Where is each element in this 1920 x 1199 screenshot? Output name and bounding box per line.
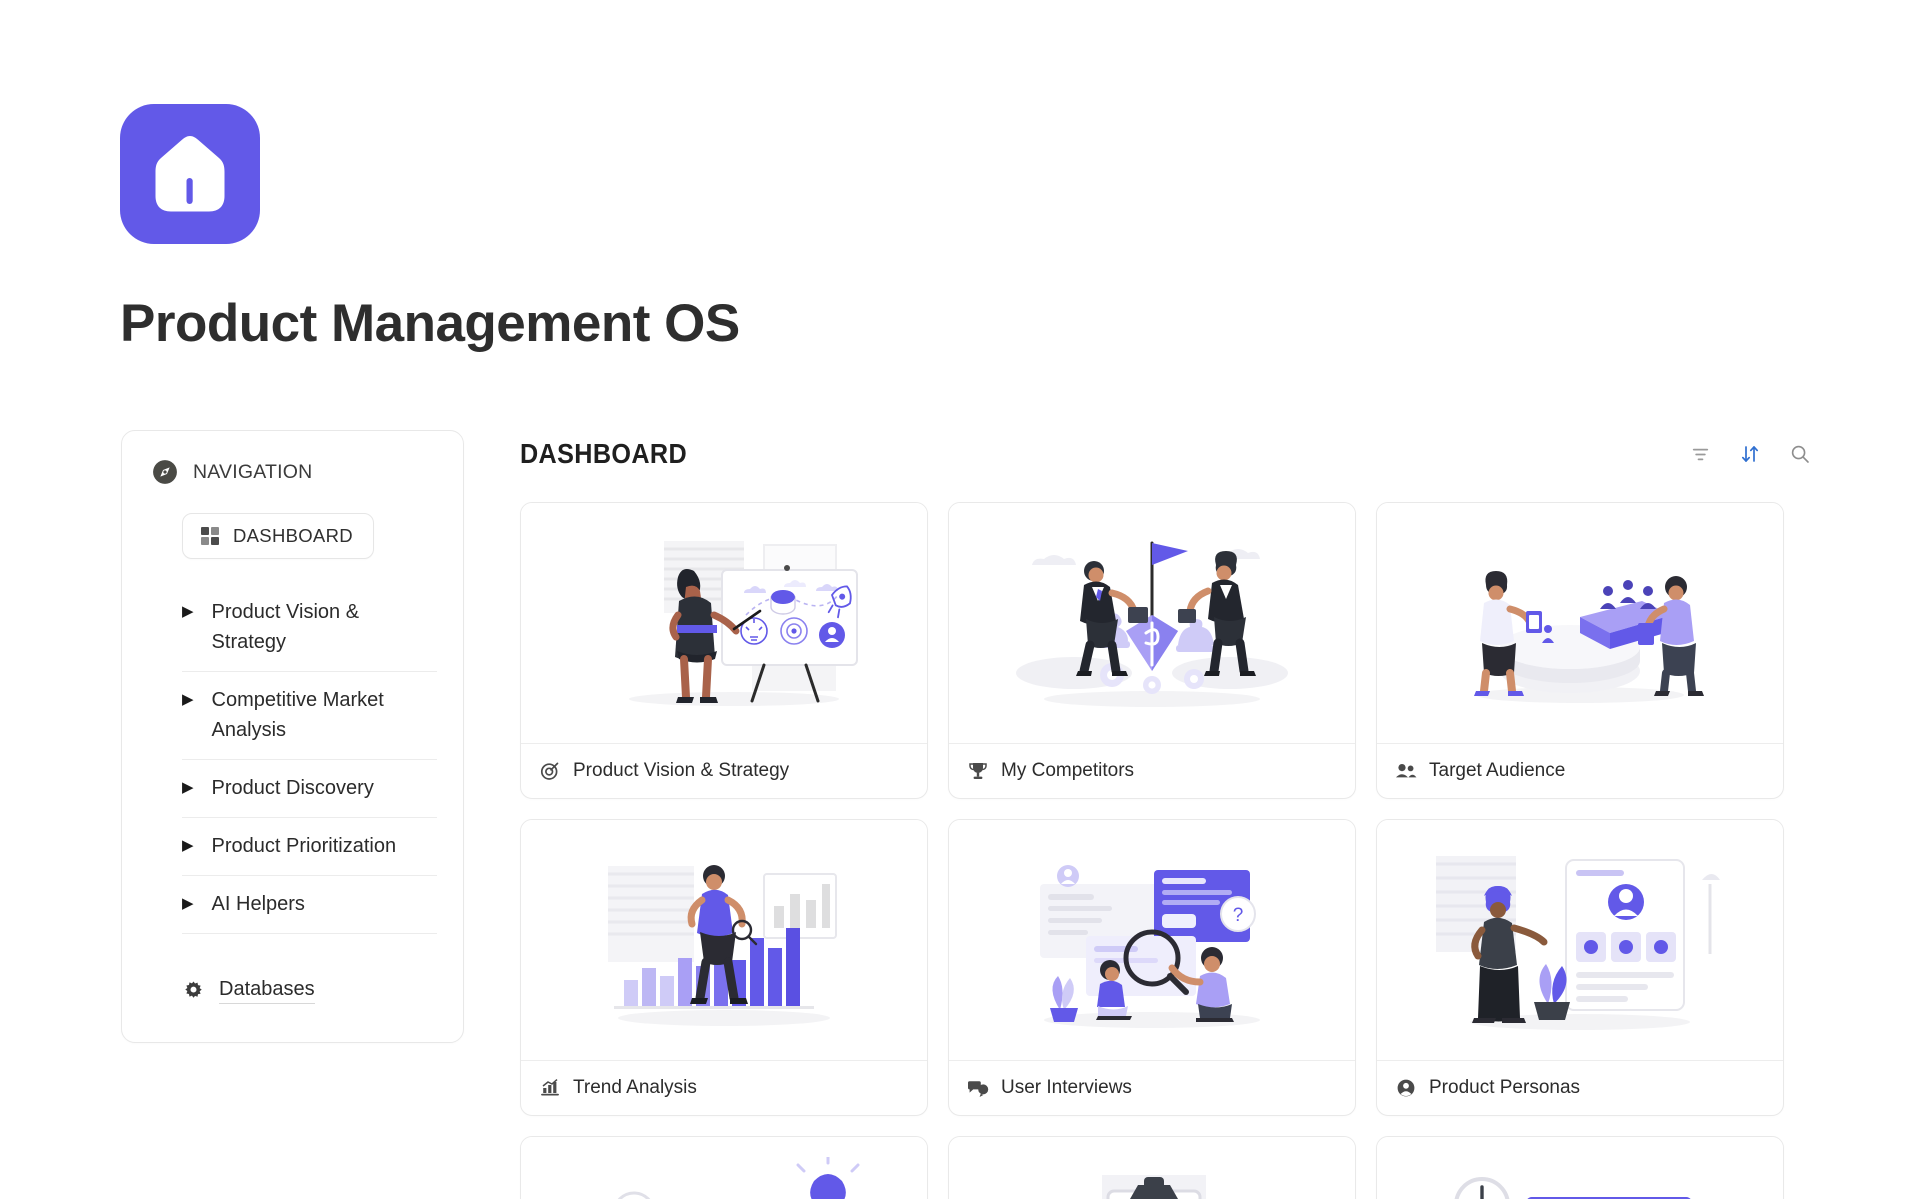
card-row3-col2[interactable] (948, 1136, 1356, 1199)
dashboard-card-grid: Product Vision & Strategy (520, 502, 1820, 1199)
woman-presenting-whiteboard-illustration (574, 523, 874, 723)
card-footer: Product Vision & Strategy (521, 743, 927, 798)
business-people-chess-flag-illustration (1002, 523, 1302, 723)
sidebar-item-product-discovery[interactable]: ▶ Product Discovery (182, 760, 437, 818)
man-bar-chart-growth-illustration (574, 840, 874, 1040)
card-footer: Product Personas (1377, 1060, 1783, 1115)
team-kanban-board-clock-illustration (1430, 1157, 1730, 1199)
sidebar-nav-list: ▶ Product Vision & Strategy ▶ Competitiv… (182, 593, 437, 934)
sort-button[interactable] (1736, 440, 1764, 468)
sidebar-item-label: Product Vision & Strategy (212, 597, 412, 657)
toolbar-actions (1686, 440, 1814, 468)
target-icon (539, 760, 561, 782)
chevron-right-icon: ▶ (182, 889, 194, 919)
people-icon (1395, 760, 1417, 782)
sort-icon (1740, 444, 1760, 464)
sidebar-item-label: Product Prioritization (212, 831, 397, 861)
card-label: My Competitors (1001, 760, 1134, 782)
card-illustration (949, 1137, 1355, 1199)
card-illustration (949, 503, 1355, 743)
chart-up-icon (539, 1077, 561, 1099)
person-circle-icon (1395, 1077, 1417, 1099)
compass-icon (152, 459, 178, 485)
card-label: Target Audience (1429, 760, 1565, 782)
card-illustration (521, 503, 927, 743)
trophy-icon (967, 760, 989, 782)
dashboard-main: DASHBOARD (520, 430, 1820, 1199)
sidebar-item-ai-helpers[interactable]: ▶ AI Helpers (182, 876, 437, 934)
interview-magnifier-profiles-illustration: ? (1002, 840, 1302, 1040)
card-illustration (1377, 1137, 1783, 1199)
card-trend-analysis[interactable]: Trend Analysis (520, 819, 928, 1116)
card-product-personas[interactable]: Product Personas (1376, 819, 1784, 1116)
card-footer: User Interviews (949, 1060, 1355, 1115)
woman-maze-question-mark-illustration: ? (574, 1157, 874, 1199)
card-footer: My Competitors (949, 743, 1355, 798)
sidebar-item-product-vision-strategy[interactable]: ▶ Product Vision & Strategy (182, 593, 437, 672)
navigation-header-label: NAVIGATION (193, 461, 312, 484)
sidebar-item-label: Product Discovery (212, 773, 374, 803)
card-row3-col3[interactable] (1376, 1136, 1784, 1199)
card-illustration (521, 820, 927, 1060)
card-footer: Trend Analysis (521, 1060, 927, 1115)
card-illustration: ? (521, 1137, 927, 1199)
chevron-right-icon: ▶ (182, 597, 194, 627)
card-illustration (1377, 503, 1783, 743)
filter-button[interactable] (1686, 440, 1714, 468)
search-button[interactable] (1786, 440, 1814, 468)
house-pentagon-logo-icon (153, 132, 227, 216)
sidebar-item-competitive-market-analysis[interactable]: ▶ Competitive Market Analysis (182, 672, 437, 760)
sidebar-dashboard-label: DASHBOARD (233, 525, 353, 547)
chevron-right-icon: ▶ (182, 773, 194, 803)
sidebar-item-label: Competitive Market Analysis (212, 685, 412, 745)
audience-segmentation-chart-illustration (1430, 523, 1730, 723)
card-my-competitors[interactable]: My Competitors (948, 502, 1356, 799)
sidebar-dashboard-button[interactable]: DASHBOARD (182, 513, 374, 559)
sidebar-databases-label: Databases (219, 978, 315, 1004)
gear-icon (182, 980, 205, 1003)
woman-phone-profile-ui-illustration (1430, 840, 1730, 1040)
card-label: User Interviews (1001, 1077, 1132, 1099)
card-footer: Target Audience (1377, 743, 1783, 798)
dashboard-page: Product Management OS NAVIGATION (0, 0, 1920, 1199)
chevron-right-icon: ▶ (182, 831, 194, 861)
card-product-vision-strategy[interactable]: Product Vision & Strategy (520, 502, 928, 799)
grid-icon (200, 526, 220, 546)
search-icon (1790, 444, 1810, 464)
sidebar-item-databases[interactable]: Databases (182, 978, 315, 1004)
sidebar-item-product-prioritization[interactable]: ▶ Product Prioritization (182, 818, 437, 876)
filter-icon (1691, 445, 1710, 464)
card-illustration (1377, 820, 1783, 1060)
app-logo (120, 104, 260, 244)
dashboard-heading: DASHBOARD (520, 438, 687, 470)
navigation-sidebar: NAVIGATION DASHBOARD ▶ Product Vision & … (121, 430, 464, 1043)
svg-text:?: ? (1233, 905, 1244, 926)
speech-bubbles-icon (967, 1077, 989, 1099)
card-target-audience[interactable]: Target Audience (1376, 502, 1784, 799)
card-user-interviews[interactable]: ? (948, 819, 1356, 1116)
page-header: Product Management OS (120, 104, 1820, 352)
card-label: Product Vision & Strategy (573, 760, 789, 782)
chevron-right-icon: ▶ (182, 685, 194, 715)
card-illustration: ? (949, 820, 1355, 1060)
two-people-clipboard-checklist-illustration (1002, 1157, 1302, 1199)
page-title: Product Management OS (120, 296, 1820, 352)
navigation-header: NAVIGATION (148, 459, 437, 485)
page-body: NAVIGATION DASHBOARD ▶ Product Vision & … (0, 430, 1920, 1199)
sidebar-item-label: AI Helpers (212, 889, 305, 919)
dashboard-toolbar: DASHBOARD (520, 430, 1820, 478)
card-label: Trend Analysis (573, 1077, 697, 1099)
card-row3-col1[interactable]: ? (520, 1136, 928, 1199)
card-label: Product Personas (1429, 1077, 1580, 1099)
